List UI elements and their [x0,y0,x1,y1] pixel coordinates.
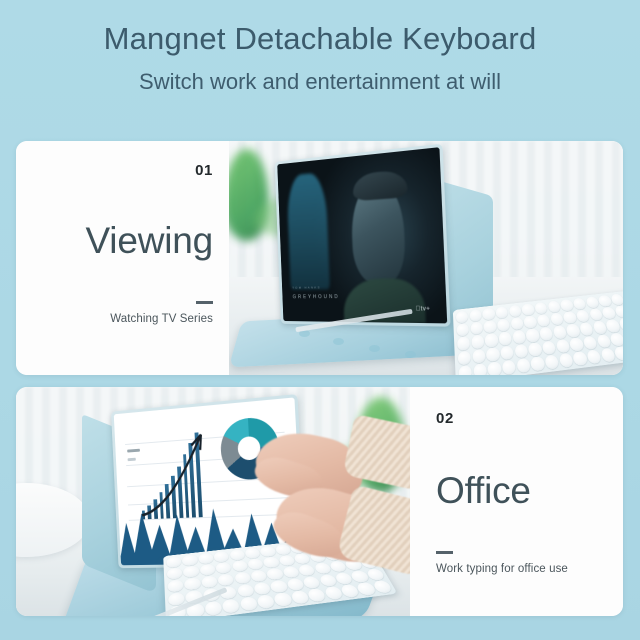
movie-title: GREYHOUND [293,295,340,301]
product-poster: Mangnet Detachable Keyboard Switch work … [0,0,640,640]
movie-scene: TOM HANKS GREYHOUND tv+ [277,147,447,323]
feature-photo-office [16,387,410,616]
movie-supertitle: TOM HANKS [292,285,321,289]
feature-title: Viewing [40,222,213,259]
page-subtitle: Switch work and entertainment at will [0,69,640,94]
feature-photo-viewing: TOM HANKS GREYHOUND tv+ [229,141,623,375]
magnet-dot-icon [333,338,344,345]
divider-dash [436,551,453,554]
step-number: 02 [436,411,603,426]
feature-text-pane-viewing: 01 Viewing Watching TV Series [16,141,229,375]
page-title: Mangnet Detachable Keyboard [0,22,640,57]
ship-window [286,172,330,289]
tablet-device: TOM HANKS GREYHOUND tv+ [275,144,451,327]
poster-header: Mangnet Detachable Keyboard Switch work … [0,22,640,94]
apple-tv-badge: tv+ [416,306,431,312]
feature-text-pane-office: 02 Office Work typing for office use [410,387,623,616]
feature-caption: Work typing for office use [436,563,603,577]
feature-title: Office [436,472,603,509]
dashboard-legend-mark [128,458,136,461]
feature-card-viewing[interactable]: 01 Viewing Watching TV Series [16,141,623,375]
actor-cap [353,170,408,201]
feature-caption: Watching TV Series [40,313,213,327]
feature-card-office[interactable]: 02 Office Work typing for office use [16,387,623,616]
step-number: 01 [40,163,213,178]
magnet-dot-icon [369,345,380,352]
magnet-dot-icon [405,351,416,358]
divider-dash [196,301,213,304]
tablet-screen: TOM HANKS GREYHOUND tv+ [277,147,447,323]
